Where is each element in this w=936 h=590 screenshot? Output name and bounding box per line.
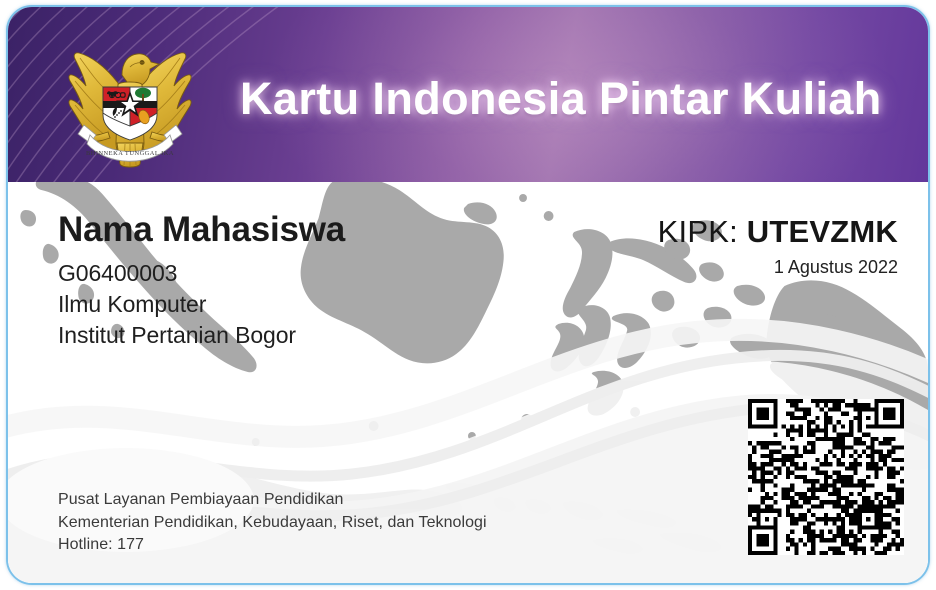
student-program: Ilmu Komputer [58, 289, 345, 320]
qr-code[interactable] [748, 399, 904, 555]
footer-block: Pusat Layanan Pembiayaan Pendidikan Keme… [58, 489, 487, 557]
student-info-block: Nama Mahasiswa G06400003 Ilmu Komputer I… [58, 212, 345, 352]
kipk-label: KIPK: [658, 214, 738, 249]
footer-hotline: Hotline: 177 [58, 534, 487, 557]
student-name: Nama Mahasiswa [58, 212, 345, 249]
card-header: BHINNEKA TUNGGAL IKA [8, 7, 928, 182]
kipk-issue-date: 1 Agustus 2022 [658, 257, 898, 278]
qr-code-svg [748, 399, 904, 555]
svg-text:BHINNEKA TUNGGAL IKA: BHINNEKA TUNGGAL IKA [86, 150, 174, 157]
card-body: Nama Mahasiswa G06400003 Ilmu Komputer I… [8, 182, 928, 583]
garuda-pancasila-emblem: BHINNEKA TUNGGAL IKA [60, 31, 200, 171]
kipk-info-block: KIPK: UTEVZMK 1 Agustus 2022 [658, 214, 898, 278]
kipk-code: UTEVZMK [747, 214, 898, 249]
footer-ministry: Kementerian Pendidikan, Kebudayaan, Rise… [58, 512, 487, 535]
kipk-id-card: BHINNEKA TUNGGAL IKA [6, 5, 930, 585]
student-institution: Institut Pertanian Bogor [58, 320, 345, 351]
student-id: G06400003 [58, 258, 345, 289]
kipk-line: KIPK: UTEVZMK [658, 214, 898, 250]
page-title: Kartu Indonesia Pintar Kuliah [240, 73, 882, 125]
footer-agency: Pusat Layanan Pembiayaan Pendidikan [58, 489, 487, 512]
